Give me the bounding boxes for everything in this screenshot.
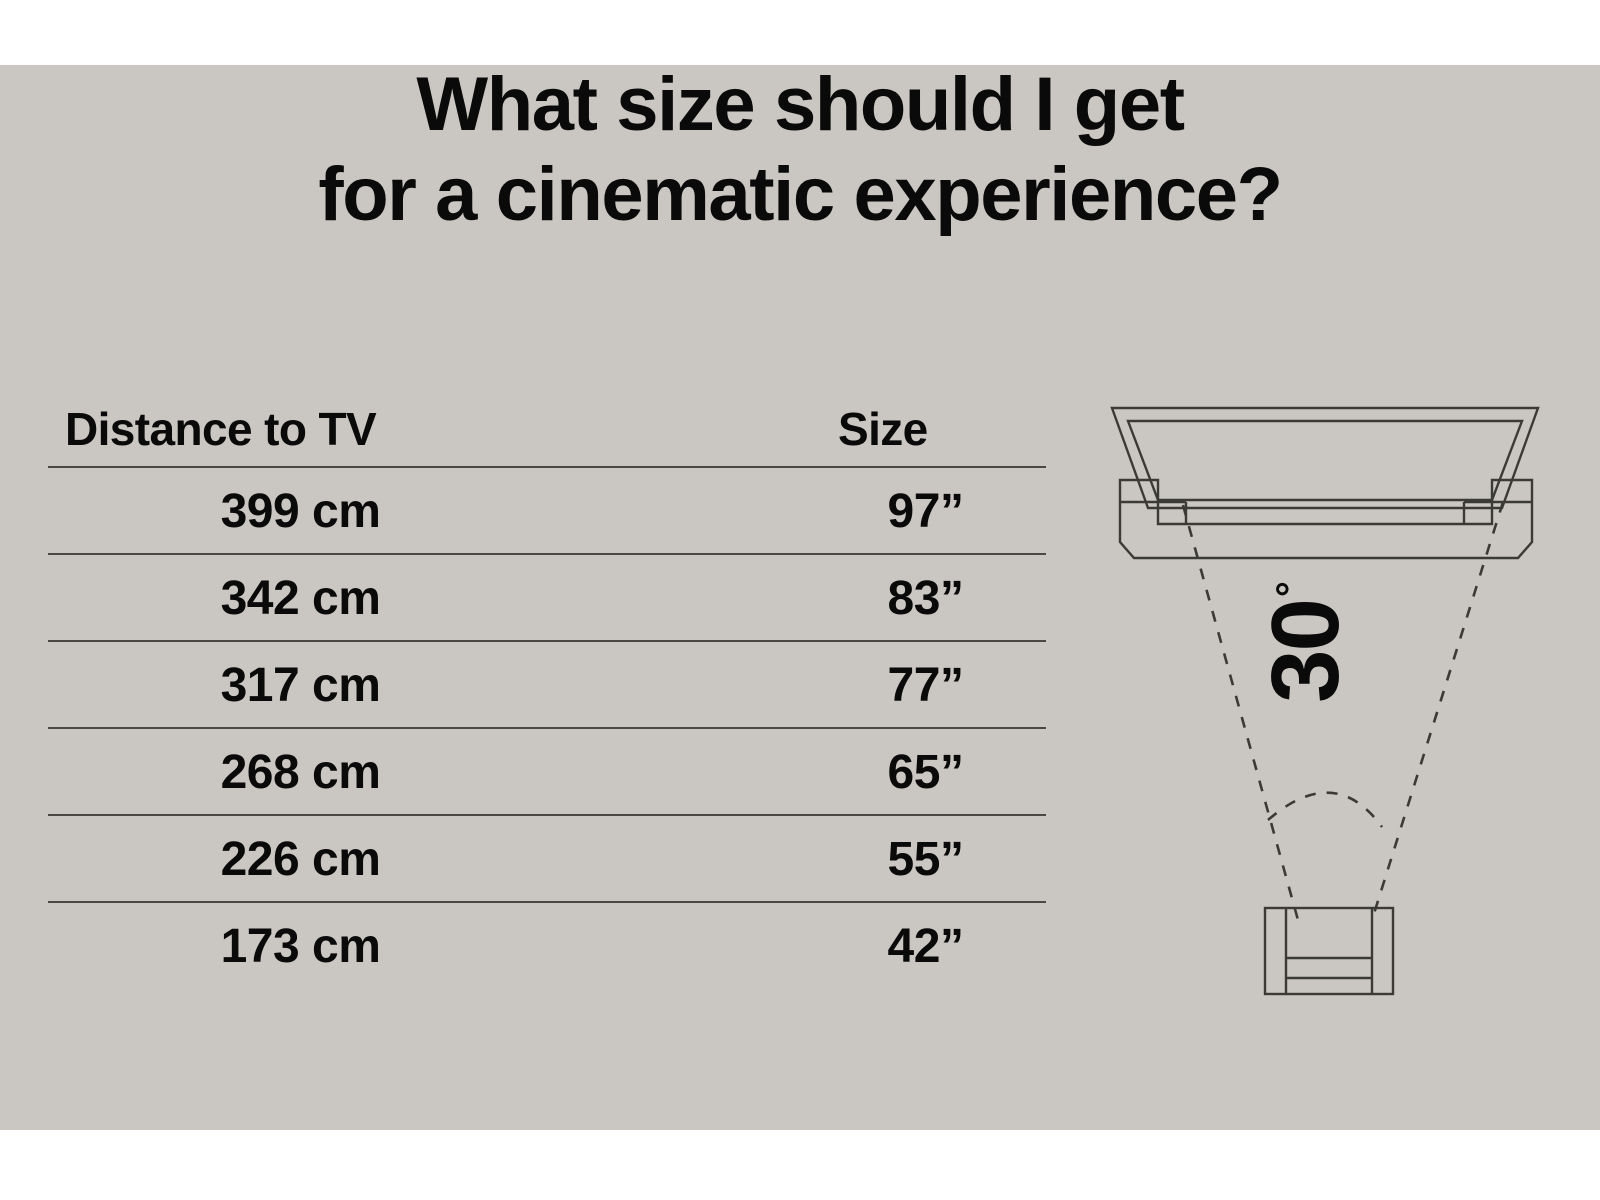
- cell-distance: 317 cm: [118, 642, 483, 729]
- table-header-row: Distance to TV Size: [48, 365, 1046, 468]
- page-title-line-1: What size should I get: [0, 60, 1600, 150]
- tv-screen-outline: [1128, 421, 1522, 500]
- page-title-line-2: for a cinematic experience?: [0, 150, 1600, 240]
- cell-size: 77”: [803, 642, 1048, 729]
- cell-size: 65”: [803, 729, 1048, 816]
- tv-stand-base: [1120, 480, 1532, 558]
- table-row: 268 cm 65”: [48, 729, 1046, 816]
- table-row: 173 cm 42”: [48, 903, 1046, 990]
- cell-size: 83”: [803, 555, 1048, 642]
- table-row: 342 cm 83”: [48, 555, 1046, 642]
- column-header-size: Size: [838, 365, 1048, 468]
- infographic-canvas: What size should I get for a cinematic e…: [0, 0, 1600, 1200]
- table-row: 317 cm 77”: [48, 642, 1046, 729]
- viewing-angle-rays: [1183, 502, 1503, 920]
- table-row: 399 cm 97”: [48, 468, 1046, 555]
- cell-size: 97”: [803, 468, 1048, 555]
- column-header-distance: Distance to TV: [65, 365, 376, 468]
- cell-size: 55”: [803, 816, 1048, 903]
- viewing-angle-diagram: [1090, 380, 1560, 1010]
- page-title: What size should I get for a cinematic e…: [0, 60, 1600, 239]
- cell-distance: 342 cm: [118, 555, 483, 642]
- sofa-top-view: [1265, 908, 1393, 994]
- tv-outer-frame: [1112, 408, 1538, 508]
- cell-distance: 399 cm: [118, 468, 483, 555]
- cell-size: 42”: [803, 903, 1048, 990]
- size-distance-table: Distance to TV Size 399 cm 97” 342 cm 83…: [48, 365, 1046, 990]
- cell-distance: 173 cm: [118, 903, 483, 990]
- cell-distance: 226 cm: [118, 816, 483, 903]
- angle-arc: [1268, 793, 1382, 827]
- table-row: 226 cm 55”: [48, 816, 1046, 903]
- cell-distance: 268 cm: [118, 729, 483, 816]
